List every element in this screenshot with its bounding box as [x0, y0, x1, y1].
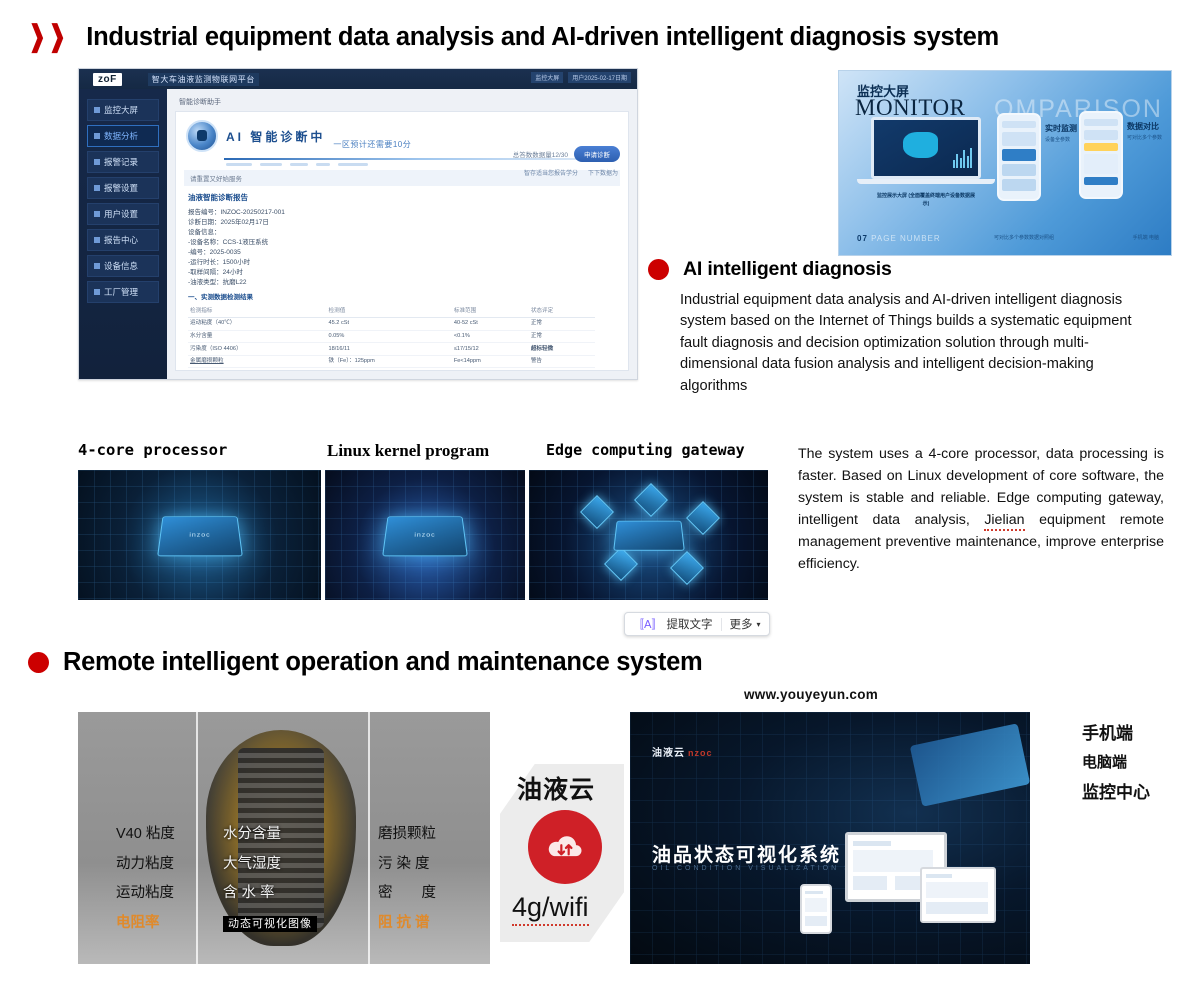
- phone-mockup-1: [997, 113, 1041, 201]
- page-number-label: PAGE NUMBER: [871, 234, 941, 243]
- cell-status: 警告: [529, 355, 595, 368]
- param-item: 运动粘度: [116, 879, 175, 909]
- extract-text-label: 提取文字: [667, 616, 713, 632]
- ai-diagnosis-block: AI intelligent diagnosis Industrial equi…: [648, 258, 1148, 397]
- ai-panel-actions: 总答数数据量12/30 申请诊断: [513, 146, 620, 162]
- sidebar-item-alarm-log[interactable]: 报警记录: [87, 151, 159, 173]
- cell-status: 正常: [529, 317, 595, 330]
- viz-logo-text: 油液云: [652, 748, 685, 759]
- param-item: V40 粘度: [116, 820, 175, 850]
- cell-range: ≤17/15/12: [452, 343, 529, 356]
- gear-oil-photo: V40 粘度 动力粘度 运动粘度 电阻率 水分含量 大气湿度 含 水 率 动态可…: [78, 712, 490, 964]
- sidebar-label: 监控大屏: [104, 104, 138, 116]
- cell-indicator: 污染度（ISO 4406）: [188, 343, 327, 356]
- apply-diagnosis-button[interactable]: 申请诊断: [574, 146, 620, 162]
- ai-panel-subtitle: 一区预计还需要10分: [333, 139, 411, 150]
- report-field: 报告编号：INZOC-20250217-001: [188, 208, 616, 218]
- dashboard-titlebar: zoF 智大车油液监测物联网平台 监控大屏 用户2025-02-17日期: [79, 69, 637, 89]
- ai-step-dots: [226, 163, 628, 166]
- cloud-sync-icon: [528, 810, 602, 884]
- red-dot-bullet-icon: [28, 652, 49, 673]
- tech-description: The system uses a 4-core processor, data…: [798, 443, 1164, 575]
- laptop-caption: 监控展示大屏 (全面覆盖终端用户设备数据展示): [875, 193, 977, 208]
- dashboard-logo: zoF: [93, 73, 122, 86]
- report-center-icon: [94, 237, 100, 243]
- user-settings-icon: [94, 211, 100, 217]
- sidebar-label: 数据分析: [104, 130, 138, 142]
- laptop-base: [857, 179, 996, 184]
- laptop-illustration: [871, 117, 981, 189]
- step-dot: [260, 163, 282, 166]
- label-sub: 设备全参数: [1045, 136, 1077, 143]
- ai-robot-icon: [186, 120, 218, 152]
- measurement-table: 检测指标 检测值 标准范围 状态评定 运动粘度（40℃） 45.2 cSt 40…: [188, 305, 595, 368]
- oil-params-left: V40 粘度 动力粘度 运动粘度 电阻率: [116, 820, 175, 939]
- section2-title: Remote intelligent operation and mainten…: [63, 648, 702, 677]
- dashboard-main: 智能诊断助手 AI 智能诊断中 一区预计还需要10分 总答数数据量12/30: [167, 89, 637, 379]
- more-button[interactable]: 更多 ▾: [722, 613, 769, 635]
- dashboard-date: 用户2025-02-17日期: [568, 72, 631, 83]
- cell-status: 超标轻微: [529, 343, 595, 356]
- sidebar-label: 工厂管理: [104, 286, 138, 298]
- param-item: 动力粘度: [116, 850, 175, 880]
- sidebar-label: 报警设置: [104, 182, 138, 194]
- dashboard-user[interactable]: 监控大屏: [531, 72, 563, 83]
- section2-heading: Remote intelligent operation and mainten…: [28, 648, 702, 677]
- col-status: 状态评定: [529, 305, 595, 317]
- gateway-core-icon: [613, 521, 685, 551]
- param-item-highlight: 阻 抗 谱: [378, 909, 436, 939]
- phone-mockup-2: [1079, 111, 1123, 199]
- tech-image-gateway: [529, 470, 768, 600]
- step-dot: [290, 163, 308, 166]
- cell-range: Fe<14ppm: [452, 355, 529, 368]
- param-item: 含 水 率: [223, 879, 317, 909]
- ai-diagnosis-body: Industrial equipment data analysis and A…: [680, 290, 1142, 397]
- param-item: 污 染 度: [378, 850, 436, 880]
- cell-range: <0.1%: [452, 330, 529, 343]
- divider-line: [368, 712, 370, 964]
- red-dot-bullet-icon: [648, 259, 669, 280]
- tech-image-linux: inzoc: [325, 470, 525, 600]
- phone-mockup-3: [800, 884, 832, 934]
- report-table-title: 一、实测数据检测结果: [188, 293, 616, 303]
- ai-diagnosis-title: AI intelligent diagnosis: [683, 258, 892, 281]
- cell-indicator: 水分含量: [188, 330, 327, 343]
- diagnosis-card: AI 智能诊断中 一区预计还需要10分 总答数数据量12/30 申请诊断 请重置…: [175, 111, 629, 371]
- sidebar-item-alarm-settings[interactable]: 报警设置: [87, 177, 159, 199]
- cell-value: 18/16/11: [327, 343, 452, 356]
- param-item: 密 度: [378, 879, 436, 909]
- chevron-down-icon: ▾: [757, 620, 761, 629]
- cell-indicator[interactable]: 金属磨损颗粒: [188, 355, 327, 368]
- sidebar-label: 用户设置: [104, 208, 138, 220]
- ai-diagnosis-heading: AI intelligent diagnosis: [648, 258, 1148, 281]
- laptop-screen: [871, 117, 981, 179]
- param-item: 水分含量: [223, 820, 317, 850]
- report-field: -运行时长：1500小时: [188, 258, 616, 268]
- label-mobile: 手机端: [1082, 718, 1150, 749]
- monitor-label-realtime: 实时监测 设备全参数: [1045, 123, 1077, 143]
- chip-icon: inzoc: [157, 516, 243, 556]
- sidebar-item-factory-manage[interactable]: 工厂管理: [87, 281, 159, 303]
- tech-caption-linux: Linux kernel program: [327, 441, 489, 461]
- double-chevron-right-icon: ❱❱: [27, 22, 67, 52]
- page-number-value: 07: [857, 234, 868, 243]
- endpoint-labels: 手机端 电脑端 监控中心: [1082, 718, 1150, 809]
- slide-page: ❱❱ Industrial equipment data analysis an…: [0, 0, 1195, 996]
- sidebar-item-device-info[interactable]: 设备信息: [87, 255, 159, 277]
- dynamic-image-chip: 动态可视化图像: [223, 916, 317, 932]
- sidebar-item-monitor[interactable]: 监控大屏: [87, 99, 159, 121]
- sidebar-item-user-settings[interactable]: 用户设置: [87, 203, 159, 225]
- monitor-footer-left: 可对比多个参数数据对照组: [994, 234, 1054, 241]
- dashboard-sidebar: 监控大屏 数据分析 报警记录 报警设置 用户设置 报告中心: [79, 89, 167, 379]
- cell-indicator: 运动粘度（40℃）: [188, 317, 327, 330]
- table-header-row: 检测指标 检测值 标准范围 状态评定: [188, 305, 595, 317]
- label-title: 数据对比: [1127, 122, 1159, 131]
- alarm-log-icon: [94, 159, 100, 165]
- ai-counter: 总答数数据量12/30: [513, 149, 568, 159]
- sidebar-label: 报警记录: [104, 156, 138, 168]
- tech-image-processor: inzoc: [78, 470, 321, 600]
- section1-heading: ❱❱ Industrial equipment data analysis an…: [22, 22, 999, 52]
- china-map-icon: [903, 132, 938, 157]
- viz-big-title: 油品状态可视化系统: [652, 840, 841, 867]
- cloud-subtitle: 4g/wifi: [512, 892, 589, 926]
- monitor-footer-right: 手机端 电脑: [1133, 234, 1159, 241]
- more-label: 更多: [730, 616, 753, 632]
- website-url: www.youyeyun.com: [744, 687, 878, 702]
- tech-caption-processor: 4-core processor: [78, 441, 227, 459]
- report-field: -设备名称：CCS-1液压系统: [188, 238, 616, 248]
- report-heading: 油液智能诊断报告: [188, 192, 616, 204]
- ocr-bracket-a-icon: 〚A〛: [633, 616, 663, 632]
- oil-params-middle: 水分含量 大气湿度 含 水 率 动态可视化图像: [223, 820, 317, 939]
- cloud-badge: 油液云 4g/wifi: [492, 758, 632, 948]
- param-item: 磨损颗粒: [378, 820, 436, 850]
- oil-visualization-image: 油液云nzoc 油品状态可视化系统 OIL CONDITION VISUALIZ…: [630, 712, 1030, 964]
- step-dot: [338, 163, 368, 166]
- divider-line: [196, 712, 198, 964]
- param-item: 大气湿度: [223, 850, 317, 880]
- table-row: 水分含量 0.05% <0.1% 正常: [188, 330, 595, 343]
- cell-value: 0.05%: [327, 330, 452, 343]
- report-field: -油液类型：抗磨L22: [188, 278, 616, 288]
- download-action[interactable]: 下下数据为: [588, 168, 618, 177]
- tech-caption-gateway: Edge computing gateway: [546, 441, 745, 459]
- breadcrumb: 智能诊断助手: [179, 97, 629, 107]
- label-title: 实时监测: [1045, 124, 1077, 133]
- tablet-mockup: [920, 867, 996, 923]
- cloud-title: 油液云: [517, 770, 595, 806]
- viz-logo: 油液云nzoc: [652, 744, 713, 759]
- factory-icon: [94, 289, 100, 295]
- report-field: 设备信息：: [188, 228, 616, 238]
- report-field: -取样间隔：24小时: [188, 268, 616, 278]
- bar-chart-icon: [953, 148, 973, 168]
- save-report-action[interactable]: 智存适当您报告学分: [524, 168, 578, 177]
- alarm-settings-icon: [94, 185, 100, 191]
- col-value: 检测值: [327, 305, 452, 317]
- monitor-page-number: 07 PAGE NUMBER: [857, 234, 941, 243]
- chip-icon: inzoc: [382, 516, 468, 556]
- label-desktop: 电脑端: [1082, 749, 1150, 777]
- label-monitor-center: 监控中心: [1082, 777, 1150, 808]
- report-field: 诊断日期：2025年02月17日: [188, 218, 616, 228]
- monitor-icon: [94, 107, 100, 113]
- cell-range: 40-52 cSt: [452, 317, 529, 330]
- col-indicator: 检测指标: [188, 305, 327, 317]
- sidebar-label: 报告中心: [104, 234, 138, 246]
- floating-ocr-toolbar[interactable]: 〚A〛 提取文字 更多 ▾: [624, 612, 770, 636]
- oil-params-right: 磨损颗粒 污 染 度 密 度 阻 抗 谱: [378, 820, 436, 939]
- sidebar-item-data-analysis[interactable]: 数据分析: [87, 125, 159, 147]
- viz-logo-mark: nzoc: [688, 748, 713, 758]
- table-row: 金属磨损颗粒 铁（Fe）：125ppm Fe<14ppm 警告: [188, 355, 595, 368]
- dashboard-screenshot: zoF 智大车油液监测物联网平台 监控大屏 用户2025-02-17日期 监控大…: [78, 68, 638, 380]
- monitor-promo-image: OMPARISON 监控大屏 MONITOR 监控展示大屏 (全面覆盖终端用户设…: [838, 70, 1172, 256]
- table-row: 运动粘度（40℃） 45.2 cSt 40-52 cSt 正常: [188, 317, 595, 330]
- report-field: -编号：2025-0035: [188, 248, 616, 258]
- extract-text-button[interactable]: 〚A〛 提取文字: [625, 613, 721, 635]
- dashboard-topright: 监控大屏 用户2025-02-17日期: [531, 72, 631, 83]
- param-item-highlight: 电阻率: [116, 909, 175, 939]
- step-dot: [226, 163, 252, 166]
- device-info-icon: [94, 263, 100, 269]
- sidebar-label: 设备信息: [104, 260, 138, 272]
- step-dot: [316, 163, 330, 166]
- cell-status: 正常: [529, 330, 595, 343]
- table-row: 污染度（ISO 4406） 18/16/11 ≤17/15/12 超标轻微: [188, 343, 595, 356]
- col-range: 标准范围: [452, 305, 529, 317]
- analysis-icon: [94, 133, 100, 139]
- sidebar-item-report-center[interactable]: 报告中心: [87, 229, 159, 251]
- dashboard-app-title: 智大车油液监测物联网平台: [148, 73, 259, 86]
- monitor-label-compare: 数据对比 可对比多个参数: [1127, 121, 1162, 141]
- report-actions: 智存适当您报告学分 下下数据为: [524, 168, 618, 177]
- ai-panel-title: AI 智能诊断中: [226, 128, 325, 145]
- label-sub: 可对比多个参数: [1127, 134, 1162, 141]
- diagnosis-report: 油液智能诊断报告 报告编号：INZOC-20250217-001 诊断日期：20…: [176, 186, 628, 371]
- cell-value: 铁（Fe）：125ppm: [327, 355, 452, 368]
- page-title: Industrial equipment data analysis and A…: [86, 23, 999, 52]
- cell-value: 45.2 cSt: [327, 317, 452, 330]
- tech-text-misspelled: Jielian: [984, 512, 1024, 531]
